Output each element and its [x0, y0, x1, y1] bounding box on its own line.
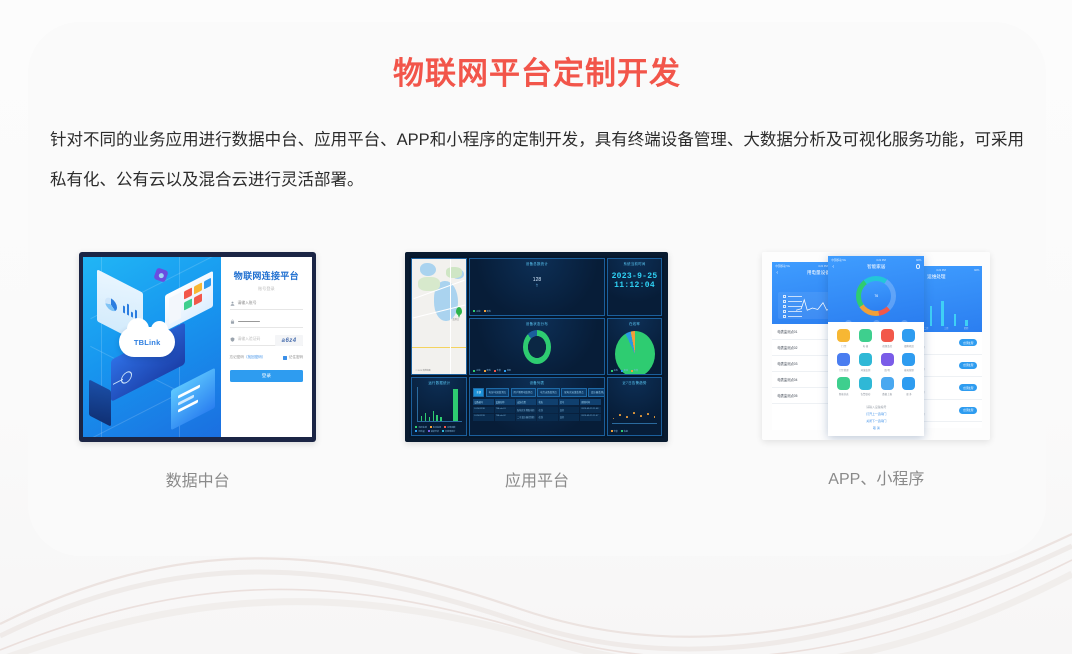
- icon-tile-label: 门禁管理: [834, 368, 853, 372]
- username-value: 请输入账号: [238, 301, 257, 306]
- table-cell: 配电房东侧配电柜: [516, 407, 536, 413]
- captcha-field[interactable]: 请输入验证码 a6z4: [230, 337, 304, 346]
- showcase-caption-1: 数据中台: [166, 467, 230, 491]
- table-tab[interactable]: 全部: [473, 388, 484, 396]
- energy-icon: [902, 353, 915, 366]
- phone-right-title: 运维处理: [927, 274, 945, 280]
- icon-tile[interactable]: 环境监测: [856, 353, 875, 372]
- page-description: 针对不同的业务应用进行数据中台、应用平台、APP和小程序的定制开发，具有终端设备…: [44, 120, 1030, 201]
- forgot-password-sub: （找回密码）: [244, 355, 266, 359]
- run-stats-legend: 电压监测电流监测功率因数 用电量谐波分析负载率统计: [415, 426, 463, 433]
- icon-tile-label: 电 梯: [856, 344, 875, 348]
- device-total-unit: 台: [470, 283, 603, 287]
- icon-tile[interactable]: 照 明: [878, 353, 897, 372]
- environment-icon: [859, 353, 872, 366]
- iso-monitor-screen: [171, 368, 215, 430]
- panel-title-run-stats: 运行数据统计: [412, 378, 466, 385]
- brand-cloud: TBLink: [119, 327, 175, 357]
- table-cell: 良好: [559, 407, 579, 413]
- alarm-linkage-icon: [859, 377, 872, 390]
- showcase-caption-3: APP、小程序: [828, 465, 924, 489]
- list-item-action-button[interactable]: 立即处理: [959, 384, 977, 391]
- table-cell: DV001239: [473, 414, 493, 420]
- icon-tile-label: 视频监控: [878, 344, 897, 348]
- icon-tile[interactable]: 视频监控: [878, 329, 897, 348]
- table-header-row: 设备编号 设备名称 安装位置 状态 信号 更新时间: [473, 399, 600, 405]
- table-row[interactable]: DV001238 TBLink-01 配电房东侧配电柜 在线 良好 2023-0…: [473, 407, 600, 413]
- clock-value: 2023-9-25 11:12:04: [608, 266, 662, 290]
- power-gauge: 76: [856, 276, 896, 316]
- table-cell: 二号变压器控制柜: [516, 414, 536, 420]
- phone-center-hero: 中国移动 5G 4:21 PM 92% ‹ 智能家居: [828, 256, 924, 322]
- login-form: 物联网连接平台 账号登录 请输入账号: [221, 257, 313, 437]
- panel-title-clock: 系统当前时间: [608, 259, 662, 266]
- monitor-frame-dashboard: 设备总数统计 128 台 在线离线: [405, 252, 668, 442]
- forgot-password-label: 忘记密码: [230, 355, 244, 359]
- table-header-cell: 安装位置: [516, 399, 536, 405]
- icon-tile[interactable]: 电 梯: [856, 329, 875, 348]
- login-submit-button[interactable]: 登录: [230, 370, 304, 382]
- action-sheet-links: 请输入设备编号 打开上一道闸门 关闭下一道闸门 取 消: [828, 400, 924, 434]
- brand-label: TBLink: [134, 338, 161, 347]
- password-mask: [238, 321, 260, 322]
- panel-title-device-status: 设备状态分布: [470, 319, 603, 326]
- phone-center-stats: [828, 320, 924, 327]
- login-options-row: 忘记密码（找回密码） 记住密码: [230, 355, 304, 360]
- iso-browser-screen: [165, 271, 213, 331]
- icon-tile-grid: 门 禁 电 梯 视频监控 摄像机组 门禁管理 环境监测 照 明 能耗管理 智能抄: [828, 322, 924, 400]
- login-title: 物联网连接平台: [230, 269, 304, 282]
- panel-title-alarm-trend: 近7日告警趋势: [608, 378, 662, 385]
- login-subtitle: 账号登录: [230, 286, 304, 292]
- phone-center-title: 智能家居: [867, 264, 885, 270]
- remember-password-checkbox[interactable]: 记住密码: [283, 355, 303, 360]
- icon-tile-label: 告警联动: [856, 392, 875, 396]
- axis-label: 四月: [964, 326, 968, 330]
- axis-label: 二月: [924, 326, 928, 330]
- list-item-action-button[interactable]: 立即处理: [959, 339, 977, 346]
- table-row[interactable]: DV001239 TBLink-02 二号变压器控制柜 在线 良好 2023-0…: [473, 414, 600, 420]
- map-marker-pin[interactable]: [456, 307, 462, 315]
- icon-tile[interactable]: 门 禁: [834, 329, 853, 348]
- table-header-cell: 信号: [559, 399, 579, 405]
- showcase-caption-2: 应用平台: [505, 467, 569, 491]
- table-header-cell: 设备编号: [473, 399, 493, 405]
- content-card: 物联网平台定制开发 针对不同的业务应用进行数据中台、应用平台、APP和小程序的定…: [28, 22, 1046, 556]
- device-table: 设备编号 设备名称 安装位置 状态 信号 更新时间 DV001238: [473, 399, 600, 421]
- icon-tile[interactable]: 更 多: [900, 377, 919, 396]
- iso-tablet: [89, 379, 111, 426]
- more-icon: [902, 377, 915, 390]
- remember-password-label: 记住密码: [289, 355, 303, 360]
- table-tab[interactable]: 配电房运维监测点: [561, 388, 586, 396]
- password-field[interactable]: [230, 319, 304, 328]
- captcha-image[interactable]: a6z4: [275, 335, 303, 346]
- table-tabs: 全部 电压/电流监测点 用户侧用电监测点 电力支路监测点 配电房运维监测点 变压…: [470, 385, 603, 396]
- captcha-placeholder: 请输入验证码: [238, 337, 261, 342]
- icon-tile-label: 照 明: [878, 368, 897, 372]
- checkbox-box: [283, 356, 287, 360]
- shield-icon: [230, 337, 235, 342]
- table-header-cell: 设备名称: [495, 399, 515, 405]
- close-next-gate-link[interactable]: 关闭下一道闸门: [828, 419, 924, 423]
- phone-center-navbar: ‹ 智能家居: [828, 262, 924, 273]
- list-item-action-button[interactable]: 立即处理: [959, 362, 977, 369]
- battery-icon: [901, 320, 908, 327]
- map-panel[interactable]: 监测点 © 2023 高德地图: [411, 258, 467, 375]
- back-arrow-icon[interactable]: ‹: [832, 264, 834, 270]
- phone-center: 中国移动 5G 4:21 PM 92% ‹ 智能家居: [828, 256, 924, 436]
- lock-icon: [230, 319, 235, 324]
- table-cell: 良好: [559, 414, 579, 420]
- monitor-frame-login: TBLink 物联网连接平台 账号登录 请输入账号: [79, 252, 316, 442]
- device-status-donut: [523, 330, 551, 364]
- gear-icon: [153, 267, 168, 282]
- showcase-item-data-platform: TBLink 物联网连接平台 账号登录 请输入账号: [28, 252, 367, 491]
- panel-clock: 系统当前时间 2023-9-25 11:12:04: [607, 258, 663, 316]
- video-monitor-icon: [881, 329, 894, 342]
- app-screenshot: 中国移动 5G 4:21 PM 92% ‹ 用电量设备: [762, 252, 990, 440]
- list-item-action-button[interactable]: 立即处理: [959, 407, 977, 414]
- dashboard-screenshot: 设备总数统计 128 台 在线离线: [409, 256, 664, 438]
- gauge-value: 76: [856, 276, 896, 316]
- icon-tile[interactable]: 能耗管理: [900, 353, 919, 372]
- humidity-icon: [873, 320, 880, 327]
- table-tab[interactable]: 电压/电流监测点: [486, 388, 509, 396]
- icon-tile[interactable]: 数据上报: [878, 377, 897, 396]
- panel-title-device-total: 设备总数统计: [470, 259, 603, 266]
- panel-title-online-rate: 在线率: [608, 319, 662, 326]
- map-attribution: © 2023 高德地图: [415, 369, 430, 372]
- page-title: 物联网平台定制开发: [28, 48, 1046, 93]
- slide-page: 物联网平台定制开发 针对不同的业务应用进行数据中台、应用平台、APP和小程序的定…: [0, 0, 1072, 654]
- device-total-legend: 在线离线: [473, 310, 600, 313]
- map-marker-label: 监测点: [452, 317, 459, 321]
- table-cell: DV001238: [473, 407, 493, 413]
- panel-device-table: 设备列表 全部 电压/电流监测点 用户侧用电监测点 电力支路监测点 配电房运维监…: [469, 377, 604, 436]
- icon-tile-label: 更 多: [900, 392, 919, 396]
- alarm-trend-spark: [612, 409, 658, 423]
- app-screens-frame: 中国移动 5G 4:21 PM 92% ‹ 用电量设备: [762, 252, 990, 440]
- user-icon: [230, 301, 235, 306]
- temperature-icon: [845, 320, 852, 327]
- icon-tile-label: 智能抄表: [834, 392, 853, 396]
- run-stats-bars: [417, 387, 462, 422]
- camera-group-icon: [902, 329, 915, 342]
- access-control-icon: [837, 353, 850, 366]
- door-access-icon: [837, 329, 850, 342]
- table-header-cell: 更新时间: [580, 399, 600, 405]
- showcase-item-app-miniprogram: 中国移动 5G 4:21 PM 92% ‹ 用电量设备: [707, 252, 1046, 491]
- icon-tile[interactable]: 告警联动: [856, 377, 875, 396]
- table-cell: 2023-09-25 11:08: [580, 407, 600, 413]
- icon-tile-label: 摄像机组: [900, 344, 919, 348]
- panel-online-rate: 在线率 在线离线告警: [607, 318, 663, 376]
- open-prev-gate-link[interactable]: 打开上一道闸门: [828, 412, 924, 416]
- icon-tile[interactable]: 智能抄表: [834, 377, 853, 396]
- settings-circle-icon[interactable]: [916, 264, 921, 269]
- back-arrow-icon[interactable]: ‹: [776, 270, 778, 276]
- icon-tile-label: 门 禁: [834, 344, 853, 348]
- icon-tile-label: 数据上报: [878, 392, 897, 396]
- table-header-cell: 状态: [537, 399, 557, 405]
- table-tab[interactable]: 用户侧用电监测点: [511, 388, 536, 396]
- username-field[interactable]: 请输入账号: [230, 301, 304, 310]
- phone-left-title: 用电量设备: [807, 270, 830, 276]
- meter-reading-icon: [837, 377, 850, 390]
- login-screenshot: TBLink 物联网连接平台 账号登录 请输入账号: [83, 257, 312, 437]
- panel-device-status: 设备状态分布 在线离线告警停用: [469, 318, 604, 376]
- lighting-icon: [881, 353, 894, 366]
- alarm-trend-legend: 告警恢复: [611, 430, 659, 433]
- icon-tile-label: 能耗管理: [900, 368, 919, 372]
- icon-tile[interactable]: 摄像机组: [900, 329, 919, 348]
- login-illustration: TBLink: [83, 257, 220, 437]
- data-report-icon: [881, 377, 894, 390]
- table-cell: 2023-09-25 11:07: [580, 414, 600, 420]
- icon-tile[interactable]: 门禁管理: [834, 353, 853, 372]
- table-cell: TBLink-01: [495, 407, 515, 413]
- cancel-link[interactable]: 取 消: [828, 426, 924, 430]
- icon-tile-label: 环境监测: [856, 368, 875, 372]
- panel-run-stats: 运行数据统计: [411, 377, 467, 436]
- table-cell: 在线: [537, 414, 557, 420]
- forgot-password-link[interactable]: 忘记密码（找回密码）: [230, 355, 266, 360]
- table-tab[interactable]: 变压器监测点: [588, 388, 605, 396]
- elevator-icon: [859, 329, 872, 342]
- table-cell: 在线: [537, 407, 557, 413]
- device-status-legend: 在线离线告警停用: [473, 369, 600, 372]
- device-code-hint: 请输入设备编号: [828, 405, 924, 409]
- online-rate-legend: 在线离线告警: [611, 369, 659, 372]
- panel-device-total: 设备总数统计 128 台 在线离线: [469, 258, 604, 316]
- showcase-item-app-platform: 设备总数统计 128 台 在线离线: [367, 252, 706, 491]
- table-tab[interactable]: 电力支路监测点: [537, 388, 560, 396]
- table-cell: TBLink-02: [495, 414, 515, 420]
- axis-label: 三月: [944, 326, 948, 330]
- showcase-row: TBLink 物联网连接平台 账号登录 请输入账号: [28, 252, 1046, 491]
- panel-title-device-table: 设备列表: [470, 378, 603, 385]
- panel-alarm-trend: 近7日告警趋势: [607, 377, 663, 436]
